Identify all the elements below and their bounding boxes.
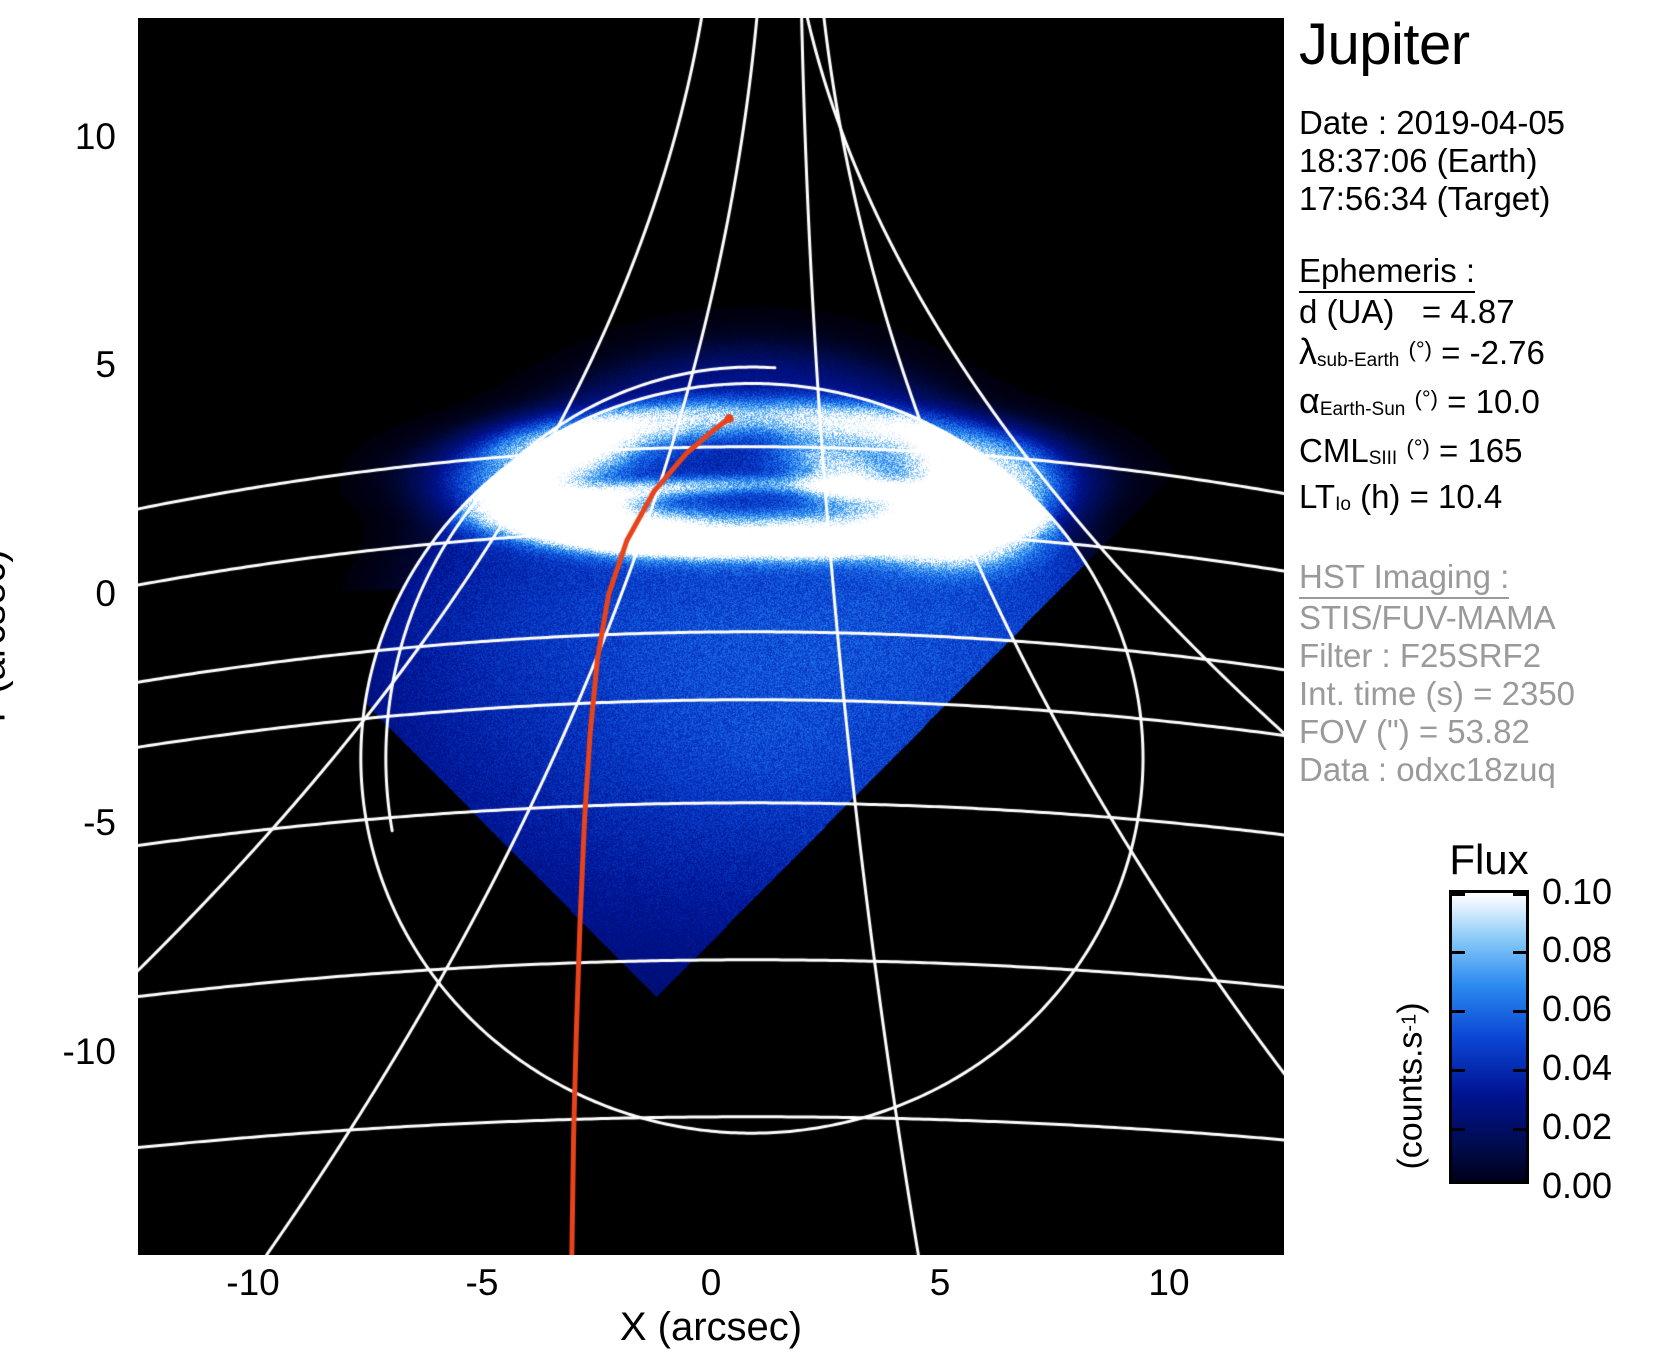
- colorbar-tick-label: 0.06: [1542, 988, 1612, 1030]
- aurora-image-plot: [138, 18, 1284, 1255]
- ephemeris-symbol: d: [1299, 293, 1317, 330]
- colorbar-tick: [1452, 893, 1465, 896]
- ephemeris-row-io-local-time: LTIo (h) = 10.4: [1299, 478, 1676, 524]
- x-tick-label: 0: [651, 1262, 771, 1304]
- colorbar-tick: [1513, 1010, 1526, 1013]
- colorbar-gradient: [1449, 890, 1529, 1184]
- ephemeris-subscript: sub-Earth: [1317, 350, 1399, 371]
- date-value: 2019-04-05: [1396, 104, 1565, 141]
- colorbar-tick: [1452, 1128, 1465, 1131]
- ephemeris-subscript: SIII: [1369, 448, 1398, 469]
- hst-filter: Filter : F25SRF2: [1299, 637, 1676, 675]
- colorbar-tick-label: 0.10: [1542, 871, 1612, 913]
- colorbar-tick-label: 0.00: [1542, 1165, 1612, 1207]
- ephemeris-block: Ephemeris : d (UA) = 4.87 λsub-Earth (°)…: [1299, 252, 1676, 524]
- ephemeris-symbol: LT: [1299, 478, 1335, 515]
- y-tick-label: 0: [0, 573, 116, 615]
- time-target: 17:56:34 (Target): [1299, 180, 1676, 218]
- colorbar-tick: [1452, 951, 1465, 954]
- colorbar-tick-label: 0.08: [1542, 929, 1612, 971]
- hst-integration-time: Int. time (s) = 2350: [1299, 675, 1676, 713]
- hst-imaging-block: HST Imaging : STIS/FUV-MAMA Filter : F25…: [1299, 558, 1676, 789]
- jupiter-aurora-image: [138, 18, 1284, 1255]
- ephemeris-subscript: Earth-Sun: [1320, 399, 1406, 420]
- hst-instrument: STIS/FUV-MAMA: [1299, 599, 1676, 637]
- x-tick-label: -5: [422, 1262, 542, 1304]
- colorbar-tick: [1513, 951, 1526, 954]
- target-title: Jupiter: [1299, 16, 1676, 74]
- ephemeris-row-cml: CMLSIII (°) = 165: [1299, 429, 1676, 478]
- colorbar-unit-paren: ): [1392, 1002, 1430, 1013]
- ephemeris-subscript: Io: [1335, 494, 1351, 515]
- ephemeris-unit: (h): [1360, 478, 1400, 515]
- ephemeris-value: = 165: [1439, 432, 1523, 469]
- colorbar-tick-label: 0.04: [1542, 1047, 1612, 1089]
- colorbar-title: Flux: [1449, 836, 1528, 884]
- x-axis-title: X (arcsec): [620, 1305, 802, 1350]
- ephemeris-unit: (°): [1406, 435, 1429, 460]
- hst-imaging-heading: HST Imaging :: [1299, 558, 1509, 599]
- ephemeris-heading-row: Ephemeris :: [1299, 252, 1676, 293]
- ephemeris-heading: Ephemeris :: [1299, 252, 1475, 293]
- hst-heading-row: HST Imaging :: [1299, 558, 1676, 599]
- y-tick-label: 10: [0, 116, 116, 158]
- colorbar-unit-label: (counts.s-1): [1392, 1002, 1431, 1169]
- hst-fov: FOV (") = 53.82: [1299, 713, 1676, 751]
- colorbar-tick: [1452, 1010, 1465, 1013]
- colorbar-tick: [1513, 1128, 1526, 1131]
- colorbar-unit-exponent: -1: [1399, 1014, 1421, 1032]
- ephemeris-row-distance: d (UA) = 4.87: [1299, 293, 1676, 331]
- ephemeris-value: = 10.4: [1410, 478, 1503, 515]
- y-tick-label: -5: [0, 802, 116, 844]
- time-earth: 18:37:06 (Earth): [1299, 142, 1676, 180]
- colorbar-tick: [1452, 1069, 1465, 1072]
- ephemeris-unit: (°): [1415, 386, 1438, 411]
- colorbar-tick-label: 0.02: [1542, 1106, 1612, 1148]
- ephemeris-value: = 10.0: [1447, 383, 1540, 420]
- colorbar-unit-text: (counts.s: [1392, 1032, 1430, 1170]
- colorbar-tick: [1513, 893, 1526, 896]
- ephemeris-unit: (°): [1409, 337, 1432, 362]
- y-tick-label: -10: [0, 1031, 116, 1073]
- ephemeris-symbol: α: [1299, 380, 1320, 421]
- ephemeris-value: = -2.76: [1441, 334, 1545, 371]
- ephemeris-value: = 4.87: [1422, 293, 1515, 330]
- colorbar-tick: [1513, 1069, 1526, 1072]
- date-line: Date : 2019-04-05: [1299, 104, 1676, 142]
- ephemeris-row-phase-angle: αEarth-Sun (°) = 10.0: [1299, 380, 1676, 429]
- ephemeris-unit: (UA): [1327, 293, 1395, 330]
- x-tick-label: 10: [1109, 1262, 1229, 1304]
- date-label: Date :: [1299, 104, 1387, 141]
- ephemeris-symbol: CML: [1299, 432, 1369, 469]
- hst-dataset-id: Data : odxc18zuq: [1299, 751, 1676, 789]
- y-tick-label: 5: [0, 344, 116, 386]
- x-tick-label: 5: [880, 1262, 1000, 1304]
- ephemeris-symbol: λ: [1299, 331, 1317, 372]
- date-block: Date : 2019-04-05 18:37:06 (Earth) 17:56…: [1299, 104, 1676, 218]
- x-tick-label: -10: [193, 1262, 313, 1304]
- ephemeris-row-sub-earth-lat: λsub-Earth (°) = -2.76: [1299, 331, 1676, 380]
